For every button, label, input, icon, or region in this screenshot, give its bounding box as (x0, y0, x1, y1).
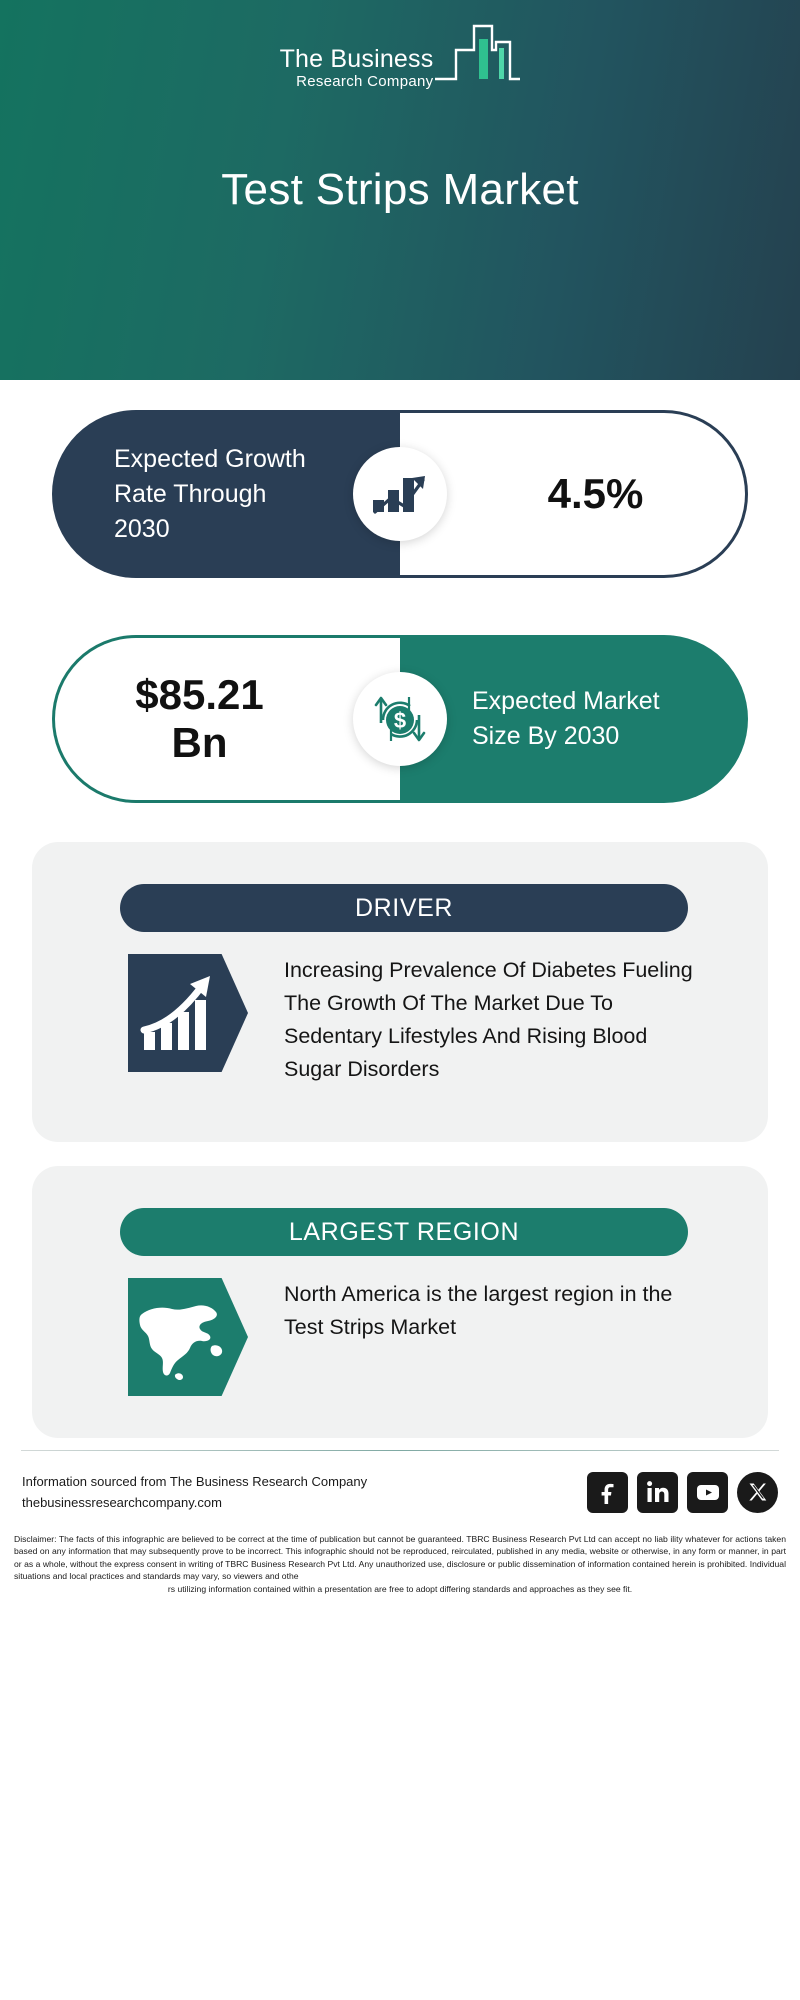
growth-rate-label: Expected Growth Rate Through 2030 (52, 410, 400, 578)
source-credit-line-1: Information sourced from The Business Re… (22, 1471, 367, 1492)
page-title: Test Strips Market (0, 0, 800, 380)
linkedin-icon[interactable] (637, 1472, 678, 1513)
driver-section: DRIVER Increasing Prevalence Of Diabetes… (0, 830, 800, 1154)
largest-region-section: LARGEST REGION North America is the larg… (0, 1154, 800, 1450)
largest-region-text: North America is the largest region in t… (284, 1278, 704, 1396)
stat-band-growth-rate: Expected Growth Rate Through 2030 4.5% (0, 380, 800, 605)
market-size-label-panel: Expected Market Size By 2030 (400, 635, 748, 803)
market-size-value-line-1: $85.21 (135, 671, 263, 719)
growth-rate-value-panel: 4.5% (400, 410, 748, 578)
dollar-circular-arrows-icon: $ (353, 672, 447, 766)
market-size-label: Expected Market Size By 2030 (400, 635, 748, 803)
market-size-value-line-2: Bn (172, 719, 228, 767)
infographic-page: The Business Research Company Test Strip… (0, 0, 800, 2000)
largest-region-pill: LARGEST REGION (120, 1208, 688, 1256)
svg-text:$: $ (394, 708, 406, 733)
source-credit: Information sourced from The Business Re… (22, 1471, 367, 1513)
growth-rate-value: 4.5% (400, 413, 745, 575)
social-links (587, 1472, 778, 1513)
source-website[interactable]: thebusinessresearchcompany.com (22, 1492, 367, 1513)
market-size-value-panel: $85.21 Bn (52, 635, 400, 803)
x-twitter-icon[interactable] (737, 1472, 778, 1513)
driver-pill-label: DRIVER (355, 894, 453, 923)
north-america-map-icon (128, 1278, 248, 1396)
disclaimer-line-1: Disclaimer: The facts of this infographi… (14, 1534, 668, 1544)
header-banner: The Business Research Company Test Strip… (0, 0, 800, 380)
growth-rate-label-panel: Expected Growth Rate Through 2030 (52, 410, 400, 578)
rising-bar-chart-arrow-icon (128, 954, 248, 1072)
driver-pill: DRIVER (120, 884, 688, 932)
largest-region-pill-label: LARGEST REGION (289, 1218, 519, 1247)
market-size-value: $85.21 Bn (55, 638, 400, 800)
stat-band-market-size: $85.21 Bn Expected Market Size By 2030 $ (0, 605, 800, 830)
disclaimer-text: Disclaimer: The facts of this infographi… (0, 1525, 800, 1605)
footer: Information sourced from The Business Re… (0, 1450, 800, 1605)
disclaimer-line-5: rs utilizing information contained withi… (14, 1583, 786, 1595)
facebook-icon[interactable] (587, 1472, 628, 1513)
driver-text: Increasing Prevalence Of Diabetes Fuelin… (284, 954, 704, 1086)
bar-chart-growth-arrow-icon (353, 447, 447, 541)
youtube-icon[interactable] (687, 1472, 728, 1513)
